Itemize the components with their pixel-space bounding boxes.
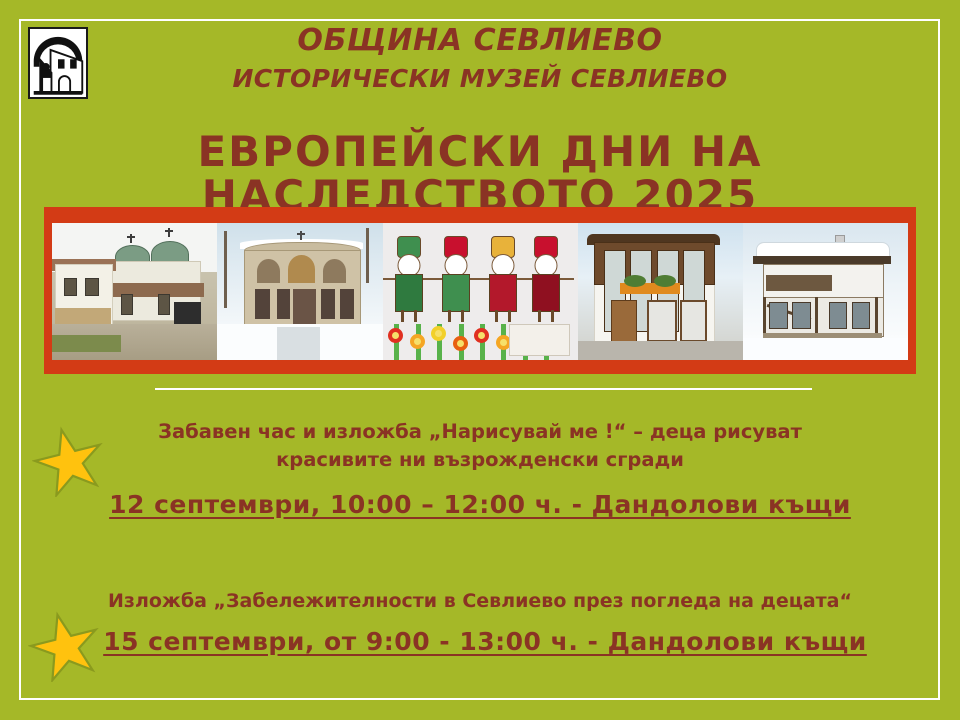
photo-church-complex xyxy=(52,223,217,360)
event-description-1: Забавен час и изложба „Нарисувай ме !“ –… xyxy=(105,418,855,475)
event-date-2: 15 септември, от 9:00 - 13:00 ч. - Дандо… xyxy=(95,627,875,656)
star-icon xyxy=(28,608,102,682)
photo-strip xyxy=(44,207,916,374)
museum-name: ИСТОРИЧЕСКИ МУЗЕЙ СЕВЛИЕВО xyxy=(40,65,920,93)
event-date-1: 12 септември, 10:00 – 12:00 ч. - Дандоло… xyxy=(100,490,860,519)
photo-revival-house xyxy=(578,223,743,360)
photo-children-drawing xyxy=(383,223,578,360)
photo-snowy-stone-building xyxy=(217,223,382,360)
photo-timber-house-snow xyxy=(743,223,908,360)
poster-canvas: ОБЩИНА СЕВЛИЕВО ИСТОРИЧЕСКИ МУЗЕЙ СЕВЛИЕ… xyxy=(0,0,960,720)
organization-name: ОБЩИНА СЕВЛИЕВО xyxy=(40,24,920,57)
header-block: ОБЩИНА СЕВЛИЕВО ИСТОРИЧЕСКИ МУЗЕЙ СЕВЛИЕ… xyxy=(40,24,920,93)
event-description-2: Изложба „Забележителности в Севлиево пре… xyxy=(70,588,890,616)
section-divider xyxy=(155,388,812,390)
page-title: ЕВРОПЕЙСКИ ДНИ НА НАСЛЕДСТВОТО 2025 xyxy=(30,130,930,218)
star-icon xyxy=(32,423,106,497)
